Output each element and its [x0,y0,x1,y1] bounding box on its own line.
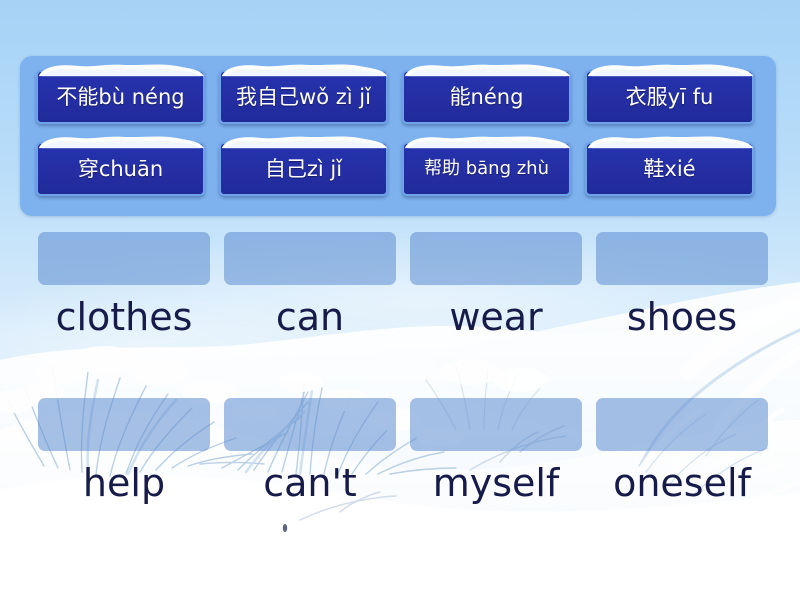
english-word-label: shoes [596,288,768,346]
tile-label: 帮助 bāng zhù [420,160,553,178]
tile-wo-zi-ji[interactable]: 我自己wǒ zì jǐ [219,70,388,124]
english-word-label: help [38,454,210,512]
dropzone-can[interactable] [224,232,396,285]
dropzone-myself[interactable] [410,398,582,451]
snow-cap-icon [216,62,391,79]
tile-zi-ji[interactable]: 自己zì jǐ [219,142,388,196]
dropzone-shoes[interactable] [596,232,768,285]
english-word-label: can't [224,454,396,512]
word-bank-row-2: 穿chuān自己zì jǐ帮助 bāng zhù鞋xié [20,142,776,204]
tile-xie[interactable]: 鞋xié [585,142,754,196]
target-cant: can't [224,398,396,518]
snow-cap-icon [33,134,208,151]
word-bank-row-1: 不能bù néng我自己wǒ zì jǐ能néng衣服yī fu [20,70,776,132]
english-word-label: clothes [38,288,210,346]
dropzone-cant[interactable] [224,398,396,451]
target-oneself: oneself [596,398,768,518]
tile-label: 自己zì jǐ [261,159,346,180]
target-help: help [38,398,210,518]
tile-neng[interactable]: 能néng [402,70,571,124]
tile-bang-zhu[interactable]: 帮助 bāng zhù [402,142,571,196]
snow-cap-icon [399,134,574,151]
dropzone-clothes[interactable] [38,232,210,285]
target-wear: wear [410,232,582,352]
english-word-label: wear [410,288,582,346]
tile-yi-fu[interactable]: 衣服yī fu [585,70,754,124]
dropzone-oneself[interactable] [596,398,768,451]
tile-label: 鞋xié [639,159,699,180]
snow-cap-icon [582,62,757,79]
snow-cap-icon [399,62,574,79]
dropzone-wear[interactable] [410,232,582,285]
target-can: can [224,232,396,352]
snow-cap-icon [216,134,391,151]
snow-cap-icon [582,134,757,151]
english-word-label: myself [410,454,582,512]
snow-cap-icon [33,62,208,79]
tile-label: 穿chuān [74,159,167,180]
target-shoes: shoes [596,232,768,352]
tile-label: 衣服yī fu [622,87,718,108]
target-myself: myself [410,398,582,518]
english-word-label: can [224,288,396,346]
tile-label: 不能bù néng [52,87,188,108]
tile-label: 我自己wǒ zì jǐ [232,87,375,108]
english-word-label: oneself [596,454,768,512]
tile-chuan[interactable]: 穿chuān [36,142,205,196]
target-clothes: clothes [38,232,210,352]
tile-label: 能néng [446,87,528,108]
word-bank-panel: 不能bù néng我自己wǒ zì jǐ能néng衣服yī fu 穿chuān自… [20,56,776,216]
dropzone-help[interactable] [38,398,210,451]
tile-bu-neng[interactable]: 不能bù néng [36,70,205,124]
